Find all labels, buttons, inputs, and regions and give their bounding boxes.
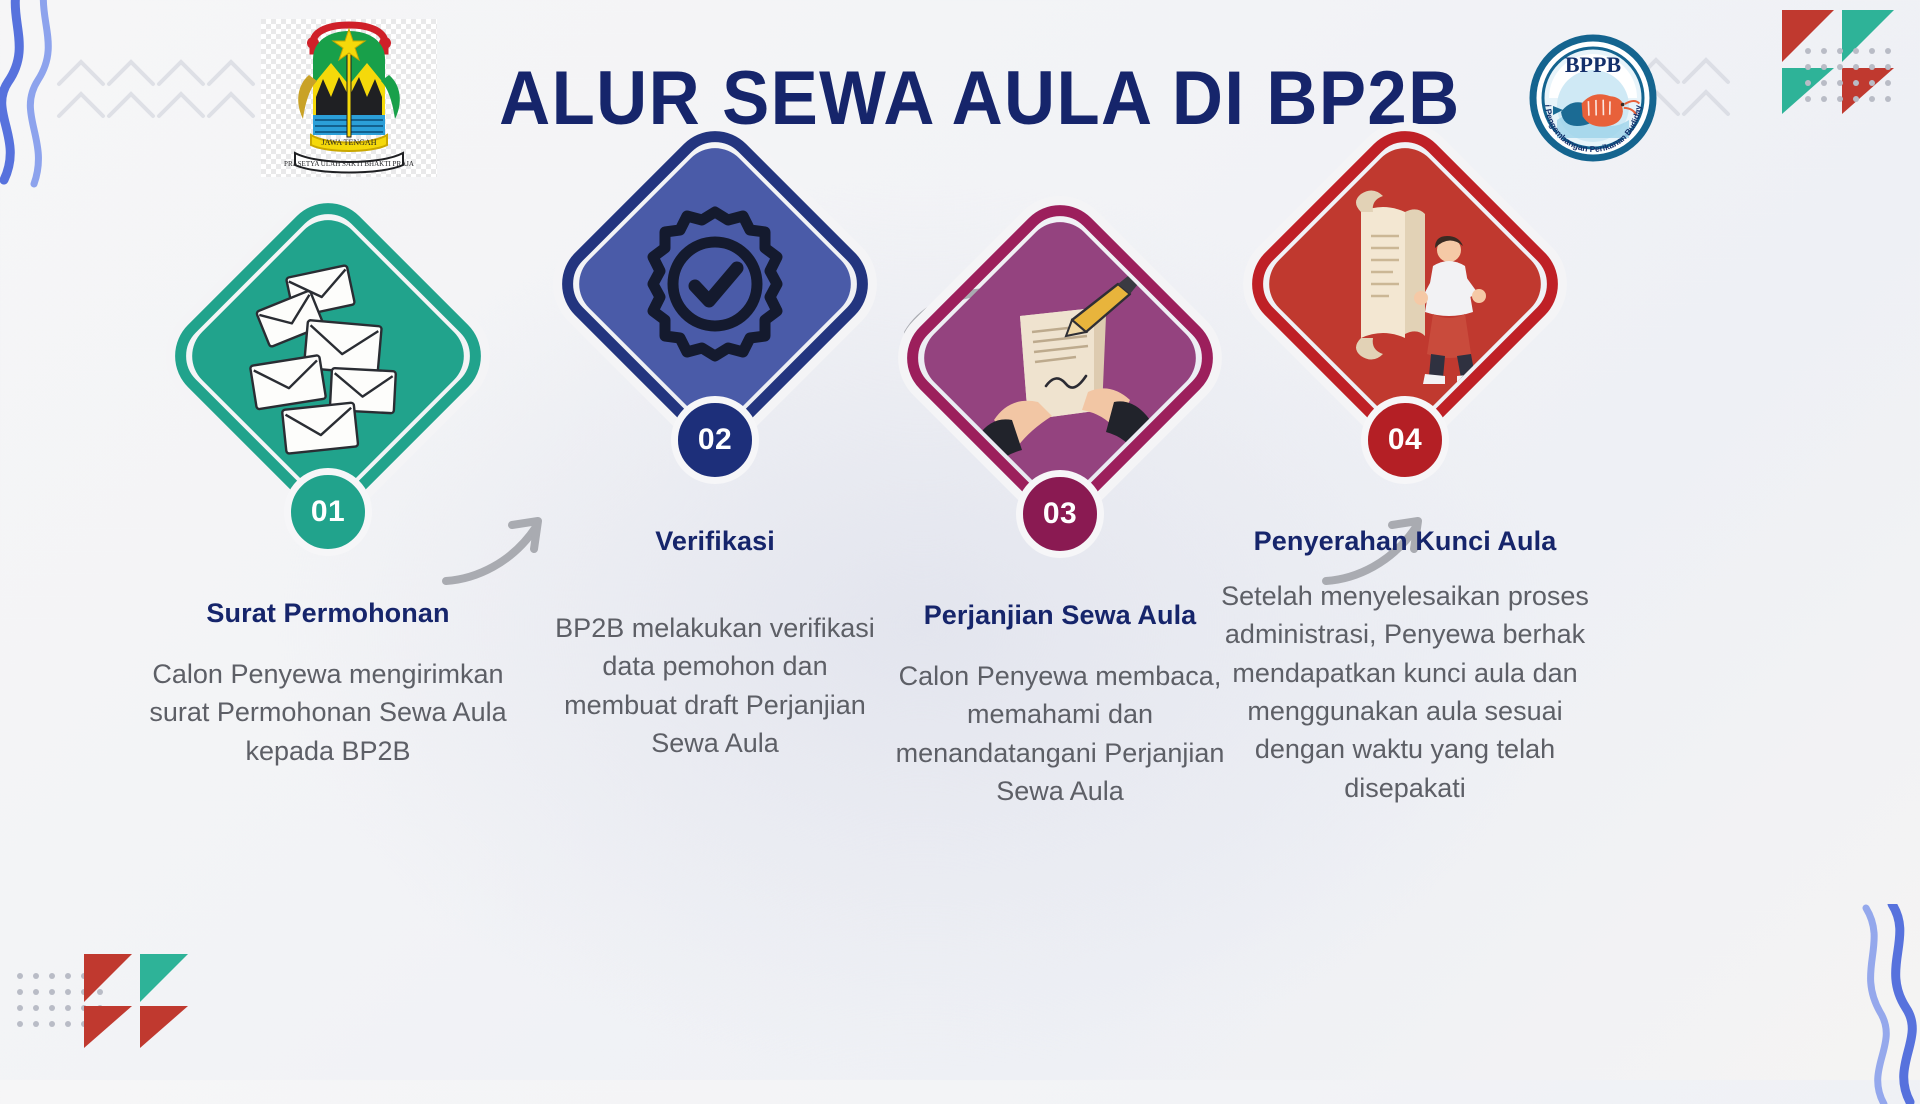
step-1-title: Surat Permohonan <box>113 598 543 629</box>
step-1-diamond-wrap: 01 <box>178 250 478 550</box>
step-1-badge: 01 <box>284 468 372 556</box>
step-2-badge: 02 <box>671 396 759 484</box>
step-4-number: 04 <box>1388 423 1422 457</box>
step-4-diamond <box>1255 134 1555 434</box>
step-1-body: Calon Penyewa mengirimkan surat Permohon… <box>113 655 543 770</box>
step-1-number: 01 <box>311 495 345 529</box>
step-2-diamond-wrap: 02 <box>565 178 865 478</box>
step-3-diamond-wrap: 03 <box>910 252 1210 552</box>
contract-signing-icon <box>954 252 1166 464</box>
step-3-diamond <box>910 208 1210 508</box>
process-flow: 01 Surat Permohonan Calon Penyewa mengir… <box>0 0 1920 1080</box>
step-1-diamond <box>178 206 478 506</box>
step-4-title: Penyerahan Kunci Aula <box>1190 526 1620 557</box>
step-2-number: 02 <box>698 423 732 457</box>
step-4-diamond-wrap: 04 <box>1255 178 1555 478</box>
envelopes-mail-icon <box>222 250 434 462</box>
verified-badge-check-icon <box>609 178 821 390</box>
step-3-badge: 03 <box>1016 470 1104 558</box>
step-3-number: 03 <box>1043 497 1077 531</box>
step-4-badge: 04 <box>1361 396 1449 484</box>
step-card-1[interactable]: 01 Surat Permohonan Calon Penyewa mengir… <box>113 250 543 770</box>
scroll-handover-key-icon <box>1299 178 1511 390</box>
step-2-diamond <box>565 134 865 434</box>
step-4-body: Setelah menyelesaikan proses administras… <box>1190 577 1620 807</box>
step-card-4[interactable]: 04 Penyerahan Kunci Aula Setelah menyele… <box>1190 178 1620 807</box>
